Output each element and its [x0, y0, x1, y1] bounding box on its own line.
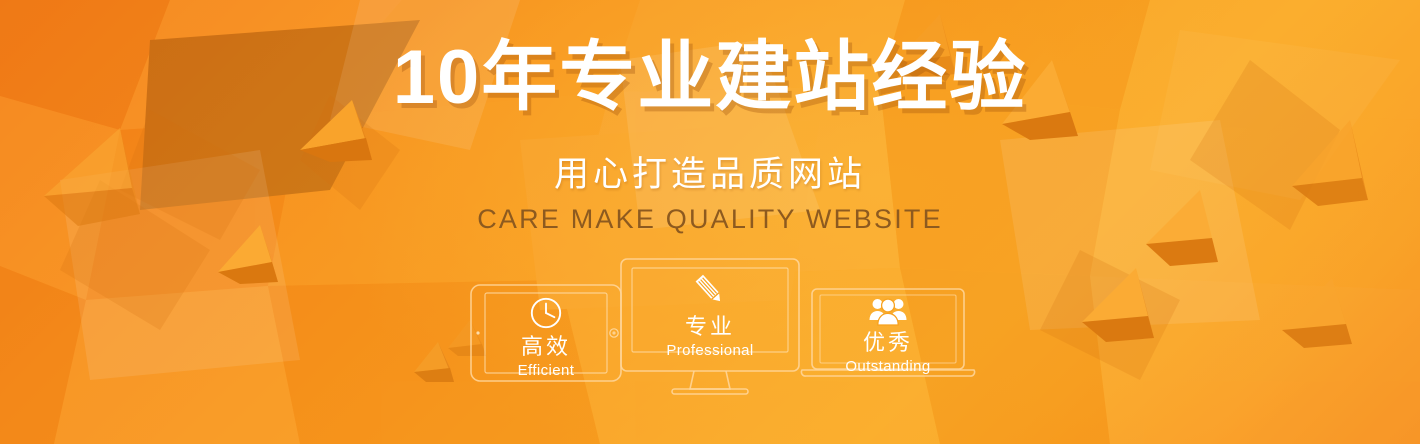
feature-tablet[interactable]: 高效 Efficient [470, 284, 622, 382]
tablet-label-cn: 高效 [470, 335, 622, 359]
laptop-label-en: Outstanding [800, 358, 976, 376]
feature-laptop[interactable]: 优秀 Outstanding [800, 288, 976, 384]
monitor-label-en: Professional [620, 342, 800, 360]
promo-banner: 10年专业建站经验 用心打造品质网站 CARE MAKE QUALITY WEB… [0, 0, 1420, 444]
monitor-label-cn: 专业 [620, 315, 800, 339]
feature-monitor[interactable]: 专业 Professional [620, 258, 800, 400]
laptop-label-cn: 优秀 [800, 331, 976, 355]
clock-icon [529, 296, 563, 330]
pencil-icon [690, 270, 730, 310]
tablet-label-en: Efficient [470, 362, 622, 380]
people-group-icon [869, 296, 907, 326]
feature-devices: 高效 Efficient [0, 0, 1420, 444]
